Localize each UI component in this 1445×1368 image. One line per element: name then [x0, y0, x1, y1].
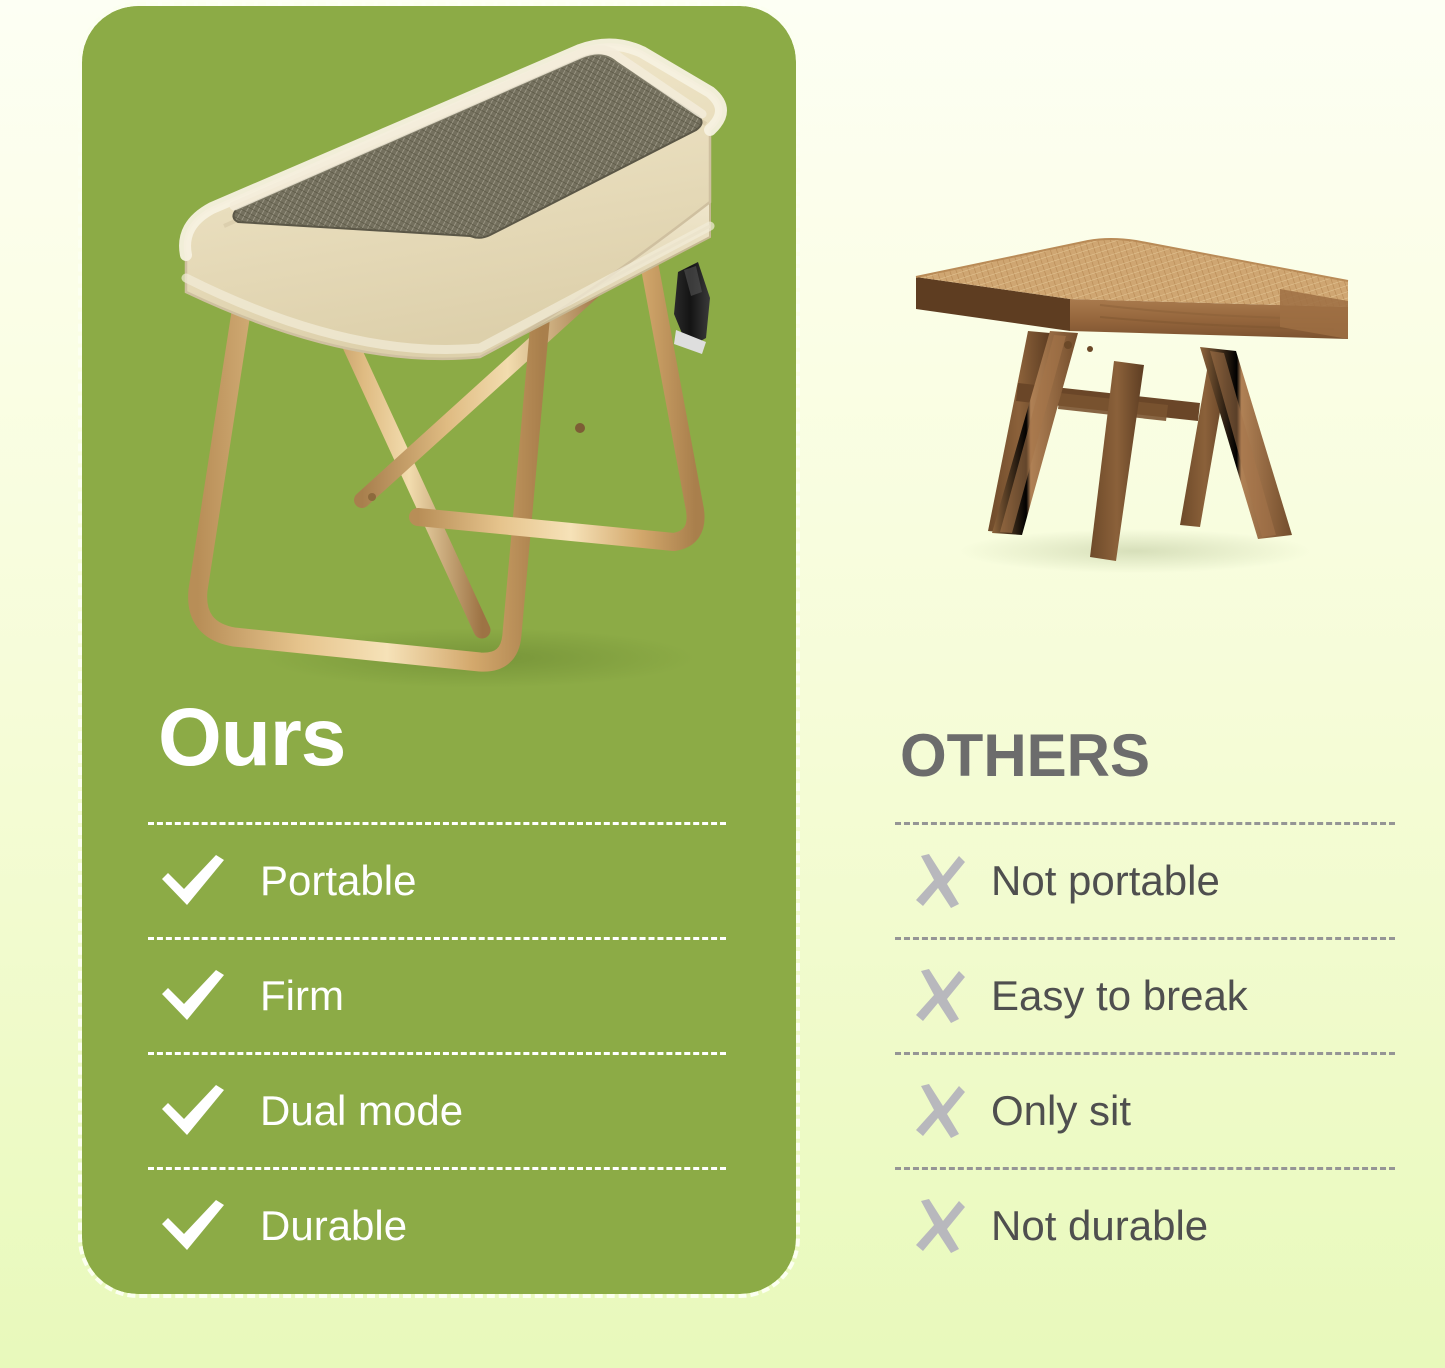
cross-icon — [895, 969, 991, 1023]
others-feature-label: Not durable — [991, 1205, 1208, 1247]
cross-icon — [895, 854, 991, 908]
others-feature-row: Only sit — [895, 1055, 1395, 1167]
others-heading: OTHERS — [900, 726, 1150, 786]
ours-feature-row: Portable — [148, 825, 726, 937]
others-feature-row: Not portable — [895, 825, 1395, 937]
ours-feature-row: Dual mode — [148, 1055, 726, 1167]
check-icon — [148, 1083, 260, 1139]
check-icon — [148, 1198, 260, 1254]
ours-feature-list: Portable Firm Dual mode Durable — [148, 822, 726, 1282]
cross-icon — [895, 1199, 991, 1253]
others-feature-label: Not portable — [991, 860, 1220, 902]
ours-feature-label: Durable — [260, 1205, 407, 1247]
others-feature-row: Not durable — [895, 1170, 1395, 1282]
others-feature-label: Easy to break — [991, 975, 1248, 1017]
cross-icon — [895, 1084, 991, 1138]
check-icon — [148, 968, 260, 1024]
ours-feature-label: Firm — [260, 975, 344, 1017]
others-product-image — [900, 235, 1360, 595]
others-feature-list: Not portable Easy to break Only sit Not … — [895, 822, 1395, 1282]
ours-feature-label: Dual mode — [260, 1090, 463, 1132]
ours-feature-row: Durable — [148, 1170, 726, 1282]
ours-product-image — [150, 30, 770, 700]
ours-heading: Ours — [158, 697, 345, 779]
ours-feature-label: Portable — [260, 860, 416, 902]
check-icon — [148, 853, 260, 909]
ours-feature-row: Firm — [148, 940, 726, 1052]
others-feature-row: Easy to break — [895, 940, 1395, 1052]
others-feature-label: Only sit — [991, 1090, 1131, 1132]
